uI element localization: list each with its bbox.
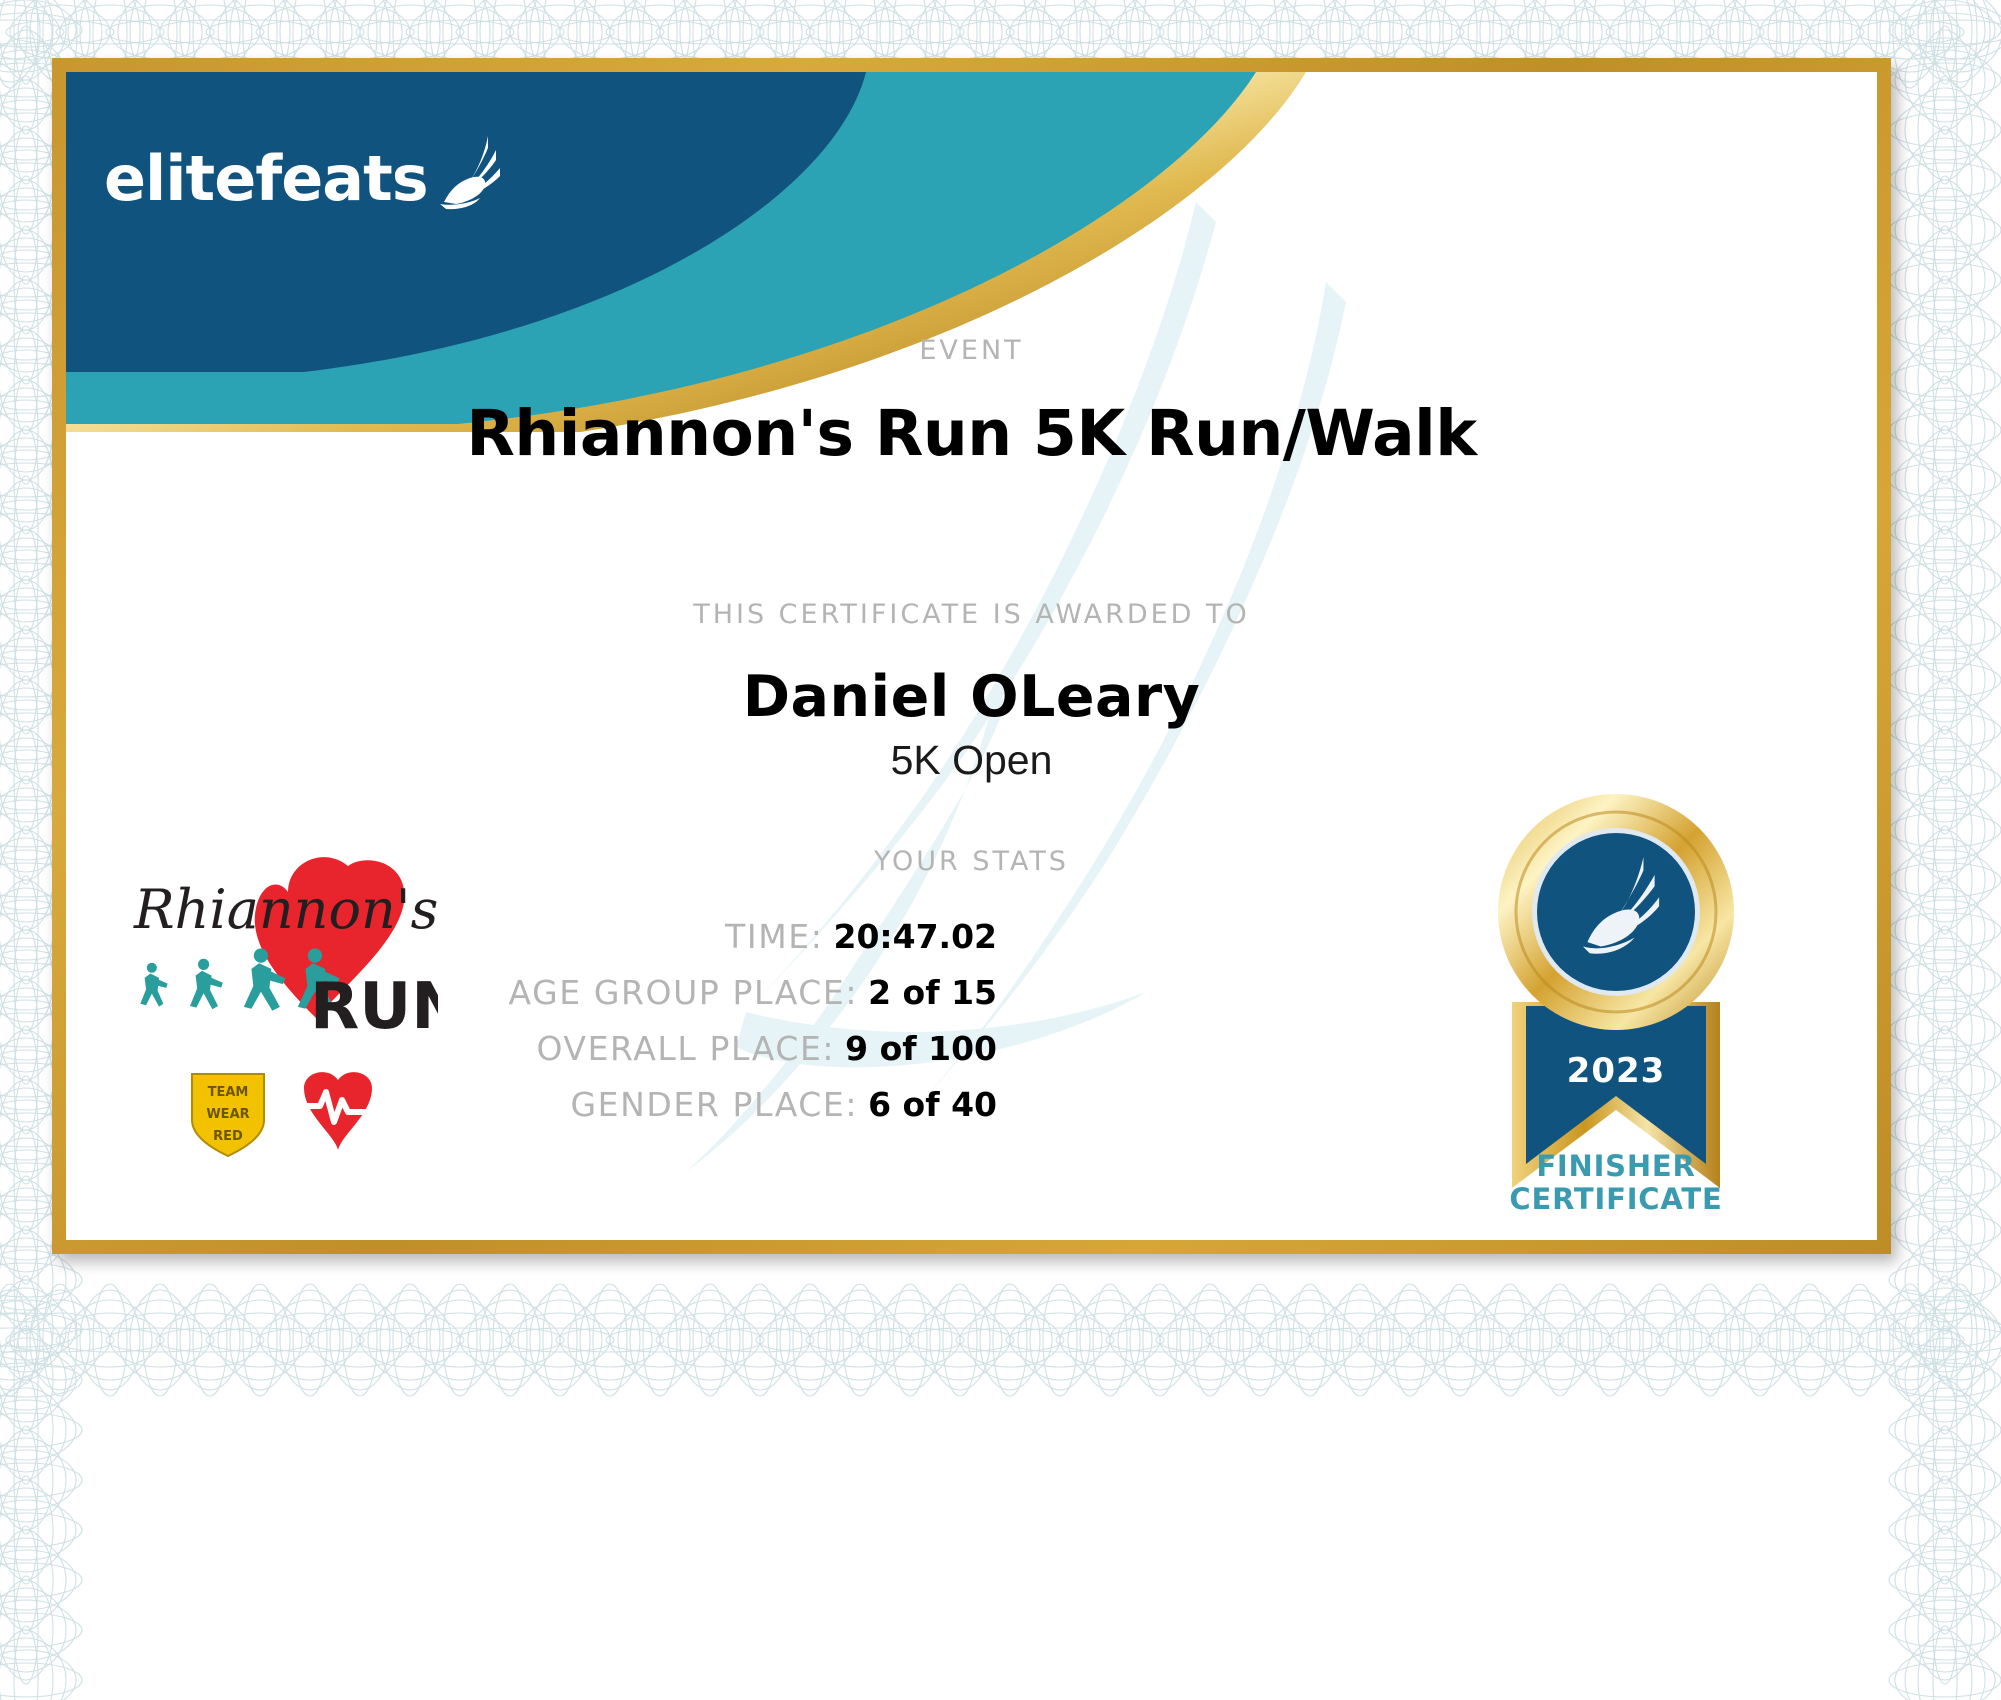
stat-value: 6 of 40 <box>868 1085 997 1124</box>
badge-caption-line2: CERTIFICATE <box>1446 1183 1786 1216</box>
svg-text:TEAM: TEAM <box>208 1085 249 1100</box>
event-logo-block-text: RUN <box>310 970 438 1044</box>
winged-foot-icon <box>430 130 508 210</box>
svg-text:RED: RED <box>213 1129 243 1144</box>
recipient-name: Daniel OLeary <box>66 664 1877 730</box>
badge-caption: FINISHER CERTIFICATE <box>1446 1150 1786 1216</box>
elitefeats-logo: elitefeats <box>104 130 508 210</box>
stat-label: AGE GROUP PLACE: <box>509 973 859 1012</box>
certificate-body: elitefeats EVENT Rhiannon's Run 5K Run/W… <box>66 72 1877 1240</box>
stat-label: OVERALL PLACE: <box>536 1029 835 1068</box>
stat-value: 20:47.02 <box>833 917 997 956</box>
stat-value: 9 of 100 <box>845 1029 997 1068</box>
ekg-heart-icon <box>304 1072 372 1150</box>
stat-value: 2 of 15 <box>868 973 997 1012</box>
division-name: 5K Open <box>66 737 1877 784</box>
event-logo-script-text: Rhiannon's <box>133 878 438 941</box>
event-title: Rhiannon's Run 5K Run/Walk <box>66 397 1877 470</box>
elitefeats-wordmark: elitefeats <box>104 148 428 210</box>
medal <box>1498 794 1734 1030</box>
badge-caption-line1: FINISHER <box>1446 1150 1786 1183</box>
rhiannons-run-event-logo: Rhiannon's <box>128 832 438 1162</box>
svg-text:WEAR: WEAR <box>206 1107 249 1122</box>
event-label: EVENT <box>66 335 1877 366</box>
awarded-to-label: THIS CERTIFICATE IS AWARDED TO <box>66 599 1877 630</box>
team-wear-red-shield-icon: TEAM WEAR RED <box>192 1074 264 1156</box>
certificate-page: elitefeats EVENT Rhiannon's Run 5K Run/W… <box>0 0 2001 1700</box>
stat-label: TIME: <box>725 917 823 956</box>
stat-label: GENDER PLACE: <box>570 1085 858 1124</box>
badge-year: 2023 <box>1567 1051 1666 1091</box>
